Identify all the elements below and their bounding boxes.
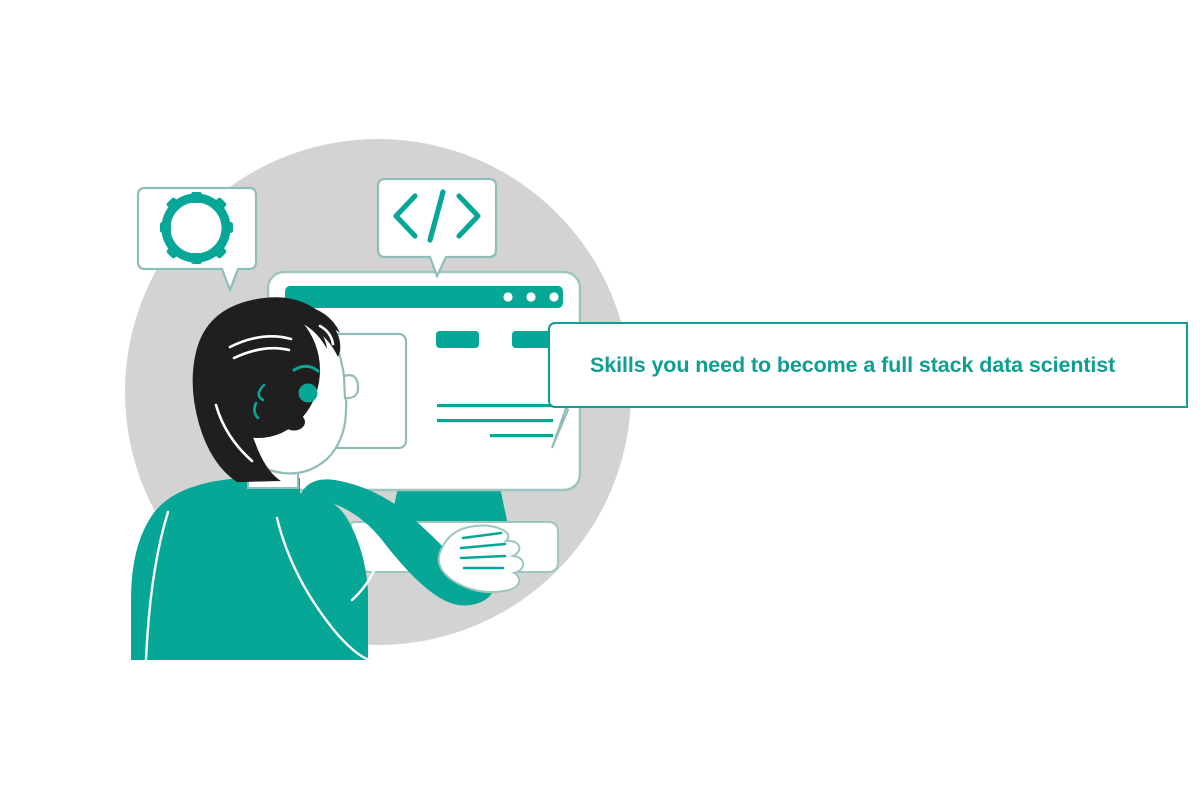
illustration-canvas: Skills you need to become a full stack d… <box>0 0 1200 800</box>
person-ear <box>344 375 358 398</box>
person-eye <box>299 384 318 403</box>
person-mouth <box>283 414 305 431</box>
titlebar-dot <box>526 292 535 301</box>
monitor-text-line <box>490 434 553 437</box>
callout-label: Skills you need to become a full stack d… <box>590 353 1115 378</box>
titlebar-dot <box>549 292 558 301</box>
callout-box[interactable]: Skills you need to become a full stack d… <box>548 322 1188 408</box>
titlebar-dot <box>503 292 512 301</box>
monitor-placeholder-button <box>436 331 479 348</box>
monitor-text-line <box>437 419 553 422</box>
monitor-titlebar <box>285 286 563 308</box>
monitor-text-line <box>437 404 566 407</box>
